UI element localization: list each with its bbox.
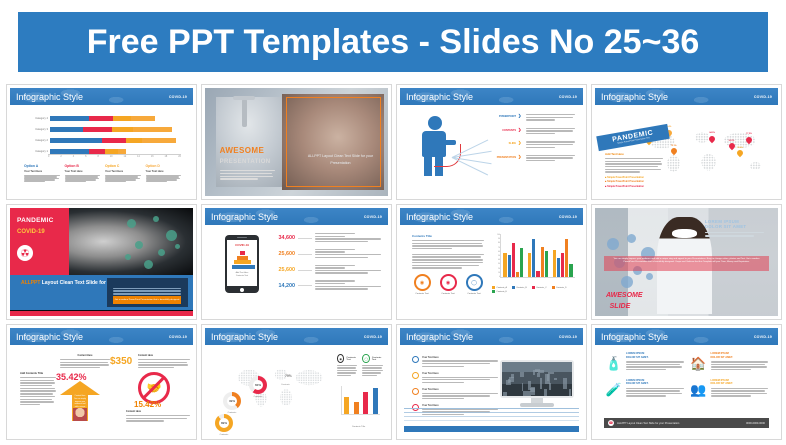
bullet-text: Your Text Here <box>422 388 498 400</box>
blue-panel: ALLPPT Layout Clean Text Slide for your … <box>10 275 193 310</box>
slide-thumbnail-7[interactable]: Infographic Style COVID-19 Contents Titl… <box>396 204 587 320</box>
pyramid-level <box>237 256 248 260</box>
option-label: Option B <box>65 164 101 168</box>
bar <box>532 239 535 277</box>
diagram-item: POWERPOINT❯ <box>490 114 575 122</box>
donut-label: 79% <box>285 374 292 378</box>
virus-particles <box>120 212 190 271</box>
bullet-heading: Your Text Here <box>422 356 498 359</box>
legend-column: ◉Contents Text <box>337 354 357 377</box>
bar <box>512 243 515 277</box>
slide-3-items: POWERPOINT❯CONTENTS❯SLIDE❯PRESENTATION❯ <box>490 114 575 188</box>
slide-2-title-line1: AWESOME <box>220 146 265 155</box>
bar-chart-title: Contents Title <box>337 426 380 428</box>
stat-body <box>315 249 381 259</box>
bar <box>569 264 572 277</box>
person-photo <box>73 408 87 421</box>
pin-label: 84.3% <box>704 132 720 134</box>
bar <box>545 251 548 277</box>
option-block: Option DYour Text Here <box>146 164 182 182</box>
slide-thumbnail-4[interactable]: Infographic Style COVID-19 98.8%65.4%72.… <box>591 84 782 200</box>
bullet-item: Your Text Here <box>412 388 498 400</box>
slide-7-text: Contents Title <box>412 234 484 270</box>
red-panel: PANDEMIC COVID-19 ☢ <box>10 208 69 275</box>
pin-label: 55.6% <box>732 147 748 149</box>
x-tick: 6 <box>85 155 86 161</box>
slide-3-badge: COVID-19 <box>559 95 577 99</box>
footer-text: ALLPPT Layout Clean Text Slide for your … <box>617 422 743 425</box>
map-pin: 72.1% <box>671 148 677 156</box>
x-tick: 8 <box>97 155 98 161</box>
monitor-bezel <box>500 360 574 398</box>
percent-stat-2: 15.42% <box>134 400 161 409</box>
slide-4-content: Infographic Style COVID-19 98.8%65.4%72.… <box>595 88 778 196</box>
slide-12-header: Infographic Style COVID-19 <box>595 328 778 345</box>
slide-6-header: Infographic Style COVID-19 <box>205 208 388 225</box>
col1-text: Content Here <box>60 354 110 370</box>
feature-cell: 🧴LOREM IPSUM DOLOR SIT AMET. <box>605 352 684 376</box>
bullet-dot-icon <box>412 372 419 379</box>
slide-10-title: Infographic Style <box>211 332 278 342</box>
diagram-item: SLIDE❯ <box>490 141 575 149</box>
phone-screen: COVID-19 Add Text Here Contents Text <box>227 240 257 286</box>
bar-category-label: Category 3 <box>28 128 50 131</box>
slide-6-content: Infographic Style COVID-19 COVID-19 Add … <box>205 208 388 316</box>
icon-caption: Contents Text <box>438 293 458 296</box>
x-tick: 2 <box>60 155 61 161</box>
slide-7-title: Infographic Style <box>406 212 473 222</box>
grouped-bar-chart: 1009080706050403020100 <box>492 234 575 284</box>
monitor-screen <box>502 362 572 396</box>
col2-heading: Content Here <box>138 354 190 357</box>
bar <box>363 392 368 414</box>
slide-12-body: 🧴LOREM IPSUM DOLOR SIT AMET.🏠LOREM IPSUM… <box>599 348 774 432</box>
slide-8-title-line2: DOLOR SIT AMET <box>705 224 771 230</box>
bar-group <box>553 234 573 277</box>
col3-text: Content Here <box>126 410 190 423</box>
slide-5-title: PANDEMIC <box>17 217 54 224</box>
option-subtitle: Your Text Here <box>105 170 141 173</box>
slide-3-header: Infographic Style COVID-19 <box>400 88 583 105</box>
slide-10-content: Infographic Style COVID-19 60%Contents39… <box>205 328 388 436</box>
bullet-item: ■ Simple PowerPoint Presentation <box>605 185 663 188</box>
virus-icon: ◉ <box>337 354 344 363</box>
stacked-bar <box>50 127 181 132</box>
bottom-accent-bar <box>10 311 193 316</box>
dotted-world-map <box>231 360 331 412</box>
slide-3-body: POWERPOINT❯CONTENTS❯SLIDE❯PRESENTATION❯ <box>404 108 579 192</box>
slide-4-text: Add Text Here ■ Simple PowerPoint Presen… <box>605 152 663 190</box>
map-pin: 84.3% <box>709 136 715 144</box>
item-label: SLIDE <box>490 141 516 145</box>
slide-12-title: Infographic Style <box>601 332 668 342</box>
phone-icon: ☎ <box>608 420 614 426</box>
legend-column: ◯Contents Text <box>362 354 382 377</box>
stacked-bar <box>50 116 181 121</box>
stat-body <box>315 265 381 275</box>
bar-category-label: Category 4 <box>28 117 50 120</box>
slide-thumbnail-12[interactable]: Infographic Style COVID-19 🧴LOREM IPSUM … <box>591 324 782 440</box>
bullet-dot-icon <box>412 388 419 395</box>
connector-lines <box>452 136 492 178</box>
face-mask <box>672 229 698 239</box>
slide-11-badge: COVID-19 <box>559 335 577 339</box>
page-banner: Free PPT Templates - Slides No 25~36 <box>18 12 768 72</box>
bullet-item: ■ Simple PowerPoint Presentation <box>605 180 663 183</box>
item-label: POWERPOINT <box>490 114 516 118</box>
slide-4-body: 98.8%65.4%72.1%84.3%90.2%55.6%77.5% PAND… <box>599 108 774 192</box>
slide-11-body: Your Text HereYour Text HereYour Text He… <box>404 348 579 432</box>
social-distancing-icon: 👥 <box>690 379 708 403</box>
option-label: Option A <box>24 164 60 168</box>
bar <box>520 248 523 277</box>
option-label: Option D <box>146 164 182 168</box>
bar <box>561 253 564 277</box>
slide-7-body: Contents Title ◉Contents Text◉Contents T… <box>404 228 579 312</box>
target-icon: ◉Contents Text <box>412 274 432 296</box>
stat-body <box>315 280 381 290</box>
bar <box>516 272 519 277</box>
x-tick: 0 <box>48 155 49 161</box>
soap-dispenser-icon: 🧴 <box>605 352 623 376</box>
chart-plot <box>500 234 575 278</box>
diagram-item: CONTENTS❯ <box>490 128 575 136</box>
pyramid-level <box>240 251 245 255</box>
bullet-dot-icon <box>412 356 419 363</box>
awesome-line2: SLIDE <box>610 303 631 310</box>
icon-caption: Contents Text <box>412 293 432 296</box>
stat-body <box>315 233 381 243</box>
bar <box>553 250 556 277</box>
slide-7-header: Infographic Style COVID-19 <box>400 208 583 225</box>
icon-caption: Contents Text <box>464 293 484 296</box>
pin-label: 90.2% <box>724 140 740 142</box>
frame-caption: ALLPPT Layout Clean Text Slide for your … <box>308 153 374 167</box>
bar <box>503 253 506 277</box>
donut-label: 39% <box>227 396 237 406</box>
info-card: Get a modern PowerPoint Presentation tha… <box>107 278 188 307</box>
slides-grid: Infographic Style COVID-19 Category 4Cat… <box>6 84 782 440</box>
awesome-line1: AWESOME <box>606 292 643 299</box>
footer-phone: 0000-0000-0000 <box>746 422 765 425</box>
legend-item: Contents_C <box>532 286 547 289</box>
slide-11-title: Infographic Style <box>406 332 473 342</box>
slide-12-content: Infographic Style COVID-19 🧴LOREM IPSUM … <box>595 328 778 436</box>
x-tick: 4 <box>73 155 74 161</box>
feature-heading: LOREM IPSUM DOLOR SIT AMET. <box>711 379 769 387</box>
stat-value: 25,600 <box>269 251 295 257</box>
stacked-bar <box>50 149 181 154</box>
col1-heading: Content Here <box>60 354 110 357</box>
legend-item: Contents_D <box>552 286 567 289</box>
x-tick: 14 <box>137 155 140 161</box>
bar-chart <box>341 386 380 415</box>
bar <box>565 239 568 277</box>
pyramid-level <box>232 265 255 269</box>
up-arrow-graphic: Content Here You can simply impress your… <box>60 381 100 421</box>
slide-thumbnail-5[interactable]: PANDEMIC COVID-19 ☢ ALLPPT Layout Clean … <box>6 204 197 320</box>
stay-home-icon: 🏠 <box>690 352 708 376</box>
monitor-base <box>520 403 554 407</box>
spray-bottle-icon: 🧪 <box>605 379 623 403</box>
slide-1-badge: COVID-19 <box>169 95 187 99</box>
nurse-photo-slide: LOREM IPSUM DOLOR SIT AMET You can simpl… <box>595 208 778 316</box>
bar-group <box>503 234 523 277</box>
x-tick: 18 <box>165 155 168 161</box>
x-tick: 12 <box>123 155 126 161</box>
computer-monitor <box>500 360 574 408</box>
bar <box>557 258 560 277</box>
chevron-right-icon: ❯ <box>516 155 526 159</box>
slide-9-title: Infographic Style <box>16 332 83 342</box>
dollar-stat: $350 <box>110 356 132 367</box>
feature-text: LOREM IPSUM DOLOR SIT AMET. <box>626 352 684 376</box>
slide-11-header: Infographic Style COVID-19 <box>400 328 583 345</box>
feature-heading: LOREM IPSUM DOLOR SIT AMET. <box>626 352 684 360</box>
icon-row: ◉Contents Text◉Contents Text◯Contents Te… <box>412 274 484 296</box>
handwash-photo: AWESOME PRESENTATION ALLPPT Layout Clean… <box>205 88 388 196</box>
slide-7-badge: COVID-19 <box>559 215 577 219</box>
feature-heading: LOREM IPSUM DOLOR SIT AMET. <box>711 352 769 360</box>
slide-5-subtitle: COVID-19 <box>17 229 45 235</box>
option-subtitle: Your Text Here <box>24 170 60 173</box>
card-button[interactable]: Get a modern PowerPoint Presentation tha… <box>113 296 181 304</box>
item-label: CONTENTS <box>490 128 516 132</box>
donut-chart: 60%Contents <box>249 376 267 394</box>
bar <box>536 271 539 277</box>
feature-cell: 👥LOREM IPSUM DOLOR SIT AMET. <box>690 379 769 403</box>
footer-bar <box>404 426 579 432</box>
contact-footer: ☎ ALLPPT Layout Clean Text Slide for you… <box>604 418 769 428</box>
bar <box>354 402 359 414</box>
slide-thumbnail-8[interactable]: LOREM IPSUM DOLOR SIT AMET You can simpl… <box>591 204 782 320</box>
bullet-text: Your Text Here <box>422 356 498 368</box>
slide-10-badge: COVID-19 <box>364 335 382 339</box>
item-label: PRESENTATION <box>490 155 516 159</box>
phone-label: COVID-19 <box>227 243 257 247</box>
col2-text: Content Here <box>138 354 190 370</box>
bullet-list: ■ Simple PowerPoint Presentation■ Simple… <box>605 176 663 188</box>
option-block: Option AYour Text Here <box>24 164 60 182</box>
slide-9-body: Add Contents Title Content Here $350 <box>14 348 189 432</box>
item-body <box>526 114 575 122</box>
item-body <box>526 155 575 163</box>
slide-thumbnail-6[interactable]: Infographic Style COVID-19 COVID-19 Add … <box>201 204 392 320</box>
left-heading: Add Contents Title <box>20 372 56 375</box>
slide-1-title: Infographic Style <box>16 92 83 102</box>
circle-icon: ◯ <box>362 354 369 363</box>
slide-7-content: Infographic Style COVID-19 Contents Titl… <box>400 208 583 316</box>
bar <box>344 397 349 414</box>
stat-list: 34,60025,60025,60014,200 <box>269 233 381 309</box>
feature-text: LOREM IPSUM DOLOR SIT AMET. <box>626 379 684 403</box>
faucet-shape <box>242 99 247 127</box>
stat-value: 14,200 <box>269 283 295 289</box>
slide-6-body: COVID-19 Add Text Here Contents Text 34,… <box>209 228 384 312</box>
slide-6-title: Infographic Style <box>211 212 278 222</box>
x-tick: 10 <box>110 155 113 161</box>
donut-chart: 89%Contents <box>215 414 233 432</box>
slide-thumbnail-11[interactable]: Infographic Style COVID-19 Your Text Her… <box>396 324 587 440</box>
feature-text: LOREM IPSUM DOLOR SIT AMET. <box>711 379 769 403</box>
donut-label: 89% <box>219 418 229 428</box>
bar <box>528 253 531 277</box>
stacked-bar <box>50 138 181 143</box>
stat-item: 25,600 <box>269 249 381 259</box>
slide-10-body: 60%Contents39%Contents89%Contents79%Cont… <box>209 348 384 432</box>
slide-11-content: Infographic Style COVID-19 Your Text Her… <box>400 328 583 436</box>
slide-10-header: Infographic Style COVID-19 <box>205 328 388 345</box>
stat-item: 14,200 <box>269 280 381 290</box>
stat-value: 25,600 <box>269 267 295 273</box>
pin-label: 77.5% <box>741 133 757 135</box>
slide-thumbnail-1[interactable]: Infographic Style COVID-19 Category 4Cat… <box>6 84 197 200</box>
item-body <box>526 128 575 136</box>
legend-label: Contents Text <box>372 357 383 361</box>
slide-1-content: Infographic Style COVID-19 Category 4Cat… <box>10 88 193 196</box>
banner-title: Free PPT Templates - Slides No 25~36 <box>87 25 700 59</box>
feature-text: LOREM IPSUM DOLOR SIT AMET. <box>711 352 769 376</box>
wave-lines <box>404 408 579 422</box>
content-title: Contents Title <box>412 234 484 238</box>
donut-caption: Contents <box>212 434 236 436</box>
slide-4-header: Infographic Style COVID-19 <box>595 88 778 105</box>
slide-2-title-line2: PRESENTATION <box>220 159 271 165</box>
donut-label: 60% <box>253 380 263 390</box>
slide-thumbnail-10[interactable]: Infographic Style COVID-19 60%Contents39… <box>201 324 392 440</box>
slide-2-content: AWESOME PRESENTATION ALLPPT Layout Clean… <box>205 88 388 196</box>
bar-category-label: Category 1 <box>28 150 50 153</box>
options-row: Option AYour Text HereOption BYour Text … <box>24 164 181 182</box>
slide-9-header: Infographic Style COVID-19 <box>10 328 193 345</box>
chevron-right-icon: ❯ <box>516 128 526 132</box>
bullet-item: Your Text Here <box>412 372 498 384</box>
slide-8-content: LOREM IPSUM DOLOR SIT AMET You can simpl… <box>595 208 778 316</box>
slide-9-badge: COVID-19 <box>169 335 187 339</box>
slide-6-badge: COVID-19 <box>364 215 382 219</box>
slide-thumbnail-3[interactable]: Infographic Style COVID-19 POWERPOINT❯CO… <box>396 84 587 200</box>
option-block: Option BYour Text Here <box>65 164 101 182</box>
bullet-item: ■ Simple PowerPoint Presentation <box>605 176 663 179</box>
donut-caption: Contents <box>246 396 270 398</box>
text-band: You can simply impress your audience and… <box>604 256 769 271</box>
stat-value: 34,600 <box>269 235 295 241</box>
legend-item: Contents_E <box>492 290 507 293</box>
feature-cell: 🧪LOREM IPSUM DOLOR SIT AMET. <box>605 379 684 403</box>
bullet-heading: Your Text Here <box>422 388 498 391</box>
legend-block: ◉Contents Text◯Contents Text <box>337 354 380 377</box>
circle-icon: ◯Contents Text <box>464 274 484 296</box>
sprayer-worker-icon <box>416 116 454 176</box>
feature-cell: 🏠LOREM IPSUM DOLOR SIT AMET. <box>690 352 769 376</box>
slide-5-content: PANDEMIC COVID-19 ☢ ALLPPT Layout Clean … <box>10 208 193 316</box>
legend-item: Contents_B <box>512 286 527 289</box>
phone-caption: Add Text Here Contents Text <box>232 272 252 278</box>
slide-9-content: Infographic Style COVID-19 Add Contents … <box>10 328 193 436</box>
chevron-right-icon: ❯ <box>516 114 526 118</box>
stat-item: 34,600 <box>269 233 381 243</box>
donut-caption: Contents <box>281 384 290 386</box>
smartphone-mockup: COVID-19 Add Text Here Contents Text <box>225 235 259 293</box>
slide-4-title: Infographic Style <box>601 92 668 102</box>
bar-group <box>528 234 548 277</box>
slide-thumbnail-2[interactable]: AWESOME PRESENTATION ALLPPT Layout Clean… <box>201 84 392 200</box>
slide-thumbnail-9[interactable]: Infographic Style COVID-19 Add Contents … <box>6 324 197 440</box>
slide-3-title: Infographic Style <box>406 92 473 102</box>
option-subtitle: Your Text Here <box>146 170 182 173</box>
text-heading: Add Text Here <box>605 152 663 156</box>
virus-icon: ◉Contents Text <box>438 274 458 296</box>
option-block: Option CYour Text Here <box>105 164 141 182</box>
templates-preview-page: Free PPT Templates - Slides No 25~36 Inf… <box>0 0 786 445</box>
bar <box>373 388 378 414</box>
chevron-right-icon: ❯ <box>516 141 526 145</box>
chart-legend: Contents_AContents_BContents_CContents_D… <box>492 286 575 293</box>
slide-3-content: Infographic Style COVID-19 POWERPOINT❯CO… <box>400 88 583 196</box>
right-panel: ◉Contents Text◯Contents Text Contents Ti… <box>337 354 380 428</box>
bar <box>541 247 544 277</box>
col3-heading: Content Here <box>126 410 190 413</box>
home-button[interactable] <box>240 288 244 292</box>
bullet-heading: Your Text Here <box>422 404 498 407</box>
icon-grid: 🧴LOREM IPSUM DOLOR SIT AMET.🏠LOREM IPSUM… <box>605 352 768 402</box>
slide-12-badge: COVID-19 <box>754 335 772 339</box>
x-tick: 20 <box>178 155 181 161</box>
bar <box>508 255 511 277</box>
pyramid-level <box>234 260 251 264</box>
legend-label: Contents Text <box>346 357 357 361</box>
feature-heading: LOREM IPSUM DOLOR SIT AMET. <box>626 379 684 387</box>
brand-label: ALLPPT <box>21 280 40 286</box>
pyramid-chart: Add Text Here Contents Text <box>232 251 252 278</box>
map-pin: 55.6% <box>737 150 743 158</box>
pin-label: 72.1% <box>666 145 682 147</box>
left-text-block: Add Contents Title <box>20 372 56 407</box>
bullet-item: Your Text Here <box>412 356 498 368</box>
biohazard-icon: ☢ <box>17 245 33 261</box>
chart-x-axis: 02468101214161820 <box>48 154 181 161</box>
option-subtitle: Your Text Here <box>65 170 101 173</box>
slide-8-title-block: LOREM IPSUM DOLOR SIT AMET <box>705 219 771 238</box>
pandemic-cover: PANDEMIC COVID-19 ☢ ALLPPT Layout Clean … <box>10 208 193 316</box>
option-label: Option C <box>105 164 141 168</box>
stat-item: 25,600 <box>269 265 381 275</box>
chart-y-axis: 1009080706050403020100 <box>492 234 500 278</box>
donut-chart: 39%Contents <box>223 392 241 410</box>
bullet-text: Your Text Here <box>422 372 498 384</box>
slide-4-badge: COVID-19 <box>754 95 772 99</box>
diagram-item: PRESENTATION❯ <box>490 155 575 163</box>
slide-1-header: Infographic Style COVID-19 <box>10 88 193 105</box>
slide-2-body <box>220 170 275 181</box>
item-body <box>526 141 575 149</box>
map-pin: 77.5% <box>746 137 752 145</box>
photo-frame <box>286 97 381 188</box>
legend-item: Contents_A <box>492 286 507 289</box>
slide-1-body: Category 4Category 3Category 2Category 1… <box>14 108 189 192</box>
x-tick: 16 <box>151 155 154 161</box>
bullet-heading: Your Text Here <box>422 372 498 375</box>
bar-category-label: Category 2 <box>28 139 50 142</box>
